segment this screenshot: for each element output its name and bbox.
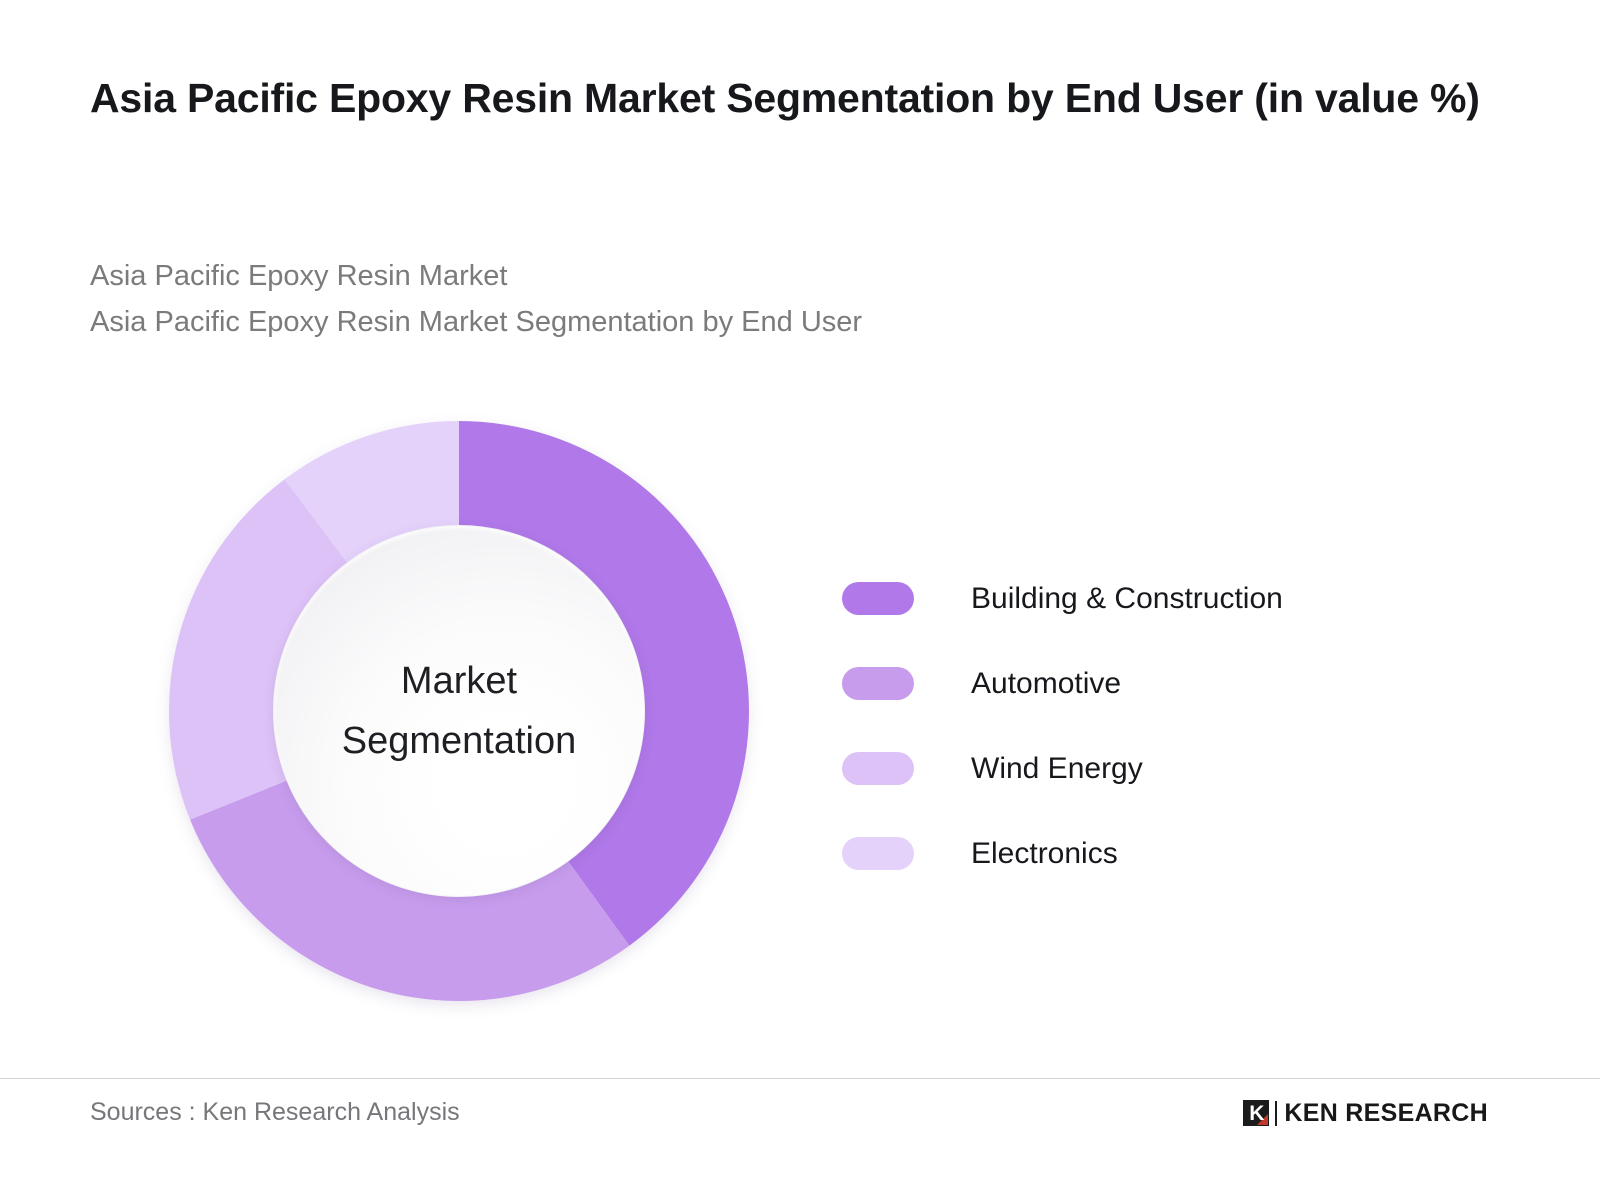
legend-item[interactable]: Wind Energy [842, 726, 1462, 811]
donut-chart: Market Segmentation [168, 420, 750, 1002]
chart-legend: Building & ConstructionAutomotiveWind En… [842, 556, 1462, 896]
logo-mark-letter: K [1249, 1103, 1263, 1124]
donut-center-label-line-2: Segmentation [342, 711, 577, 771]
legend-item[interactable]: Automotive [842, 641, 1462, 726]
legend-swatch-icon [842, 837, 914, 870]
logo-k-mark-icon: K [1243, 1100, 1269, 1126]
slide-canvas: Asia Pacific Epoxy Resin Market Segmenta… [0, 0, 1600, 1200]
logo-wordmark: KEN RESEARCH [1284, 1099, 1488, 1128]
logo-divider [1275, 1101, 1277, 1126]
legend-label: Wind Energy [971, 752, 1143, 786]
subtitle-line-2: Asia Pacific Epoxy Resin Market Segmenta… [90, 300, 1290, 346]
sources-note: Sources : Ken Research Analysis [90, 1098, 460, 1127]
legend-item[interactable]: Building & Construction [842, 556, 1462, 641]
legend-swatch-icon [842, 582, 914, 615]
legend-label: Building & Construction [971, 582, 1283, 616]
donut-center-label: Market Segmentation [273, 525, 645, 897]
legend-item[interactable]: Electronics [842, 811, 1462, 896]
legend-swatch-icon [842, 667, 914, 700]
footer-divider [0, 1078, 1600, 1079]
ken-research-logo: K KEN RESEARCH [1243, 1098, 1488, 1128]
legend-label: Automotive [971, 667, 1121, 701]
subtitle-block: Asia Pacific Epoxy Resin Market Asia Pac… [90, 254, 1290, 346]
subtitle-line-1: Asia Pacific Epoxy Resin Market [90, 254, 1290, 300]
legend-swatch-icon [842, 752, 914, 785]
page-title: Asia Pacific Epoxy Resin Market Segmenta… [90, 70, 1510, 127]
legend-label: Electronics [971, 837, 1118, 871]
donut-center-label-line-1: Market [401, 651, 517, 711]
